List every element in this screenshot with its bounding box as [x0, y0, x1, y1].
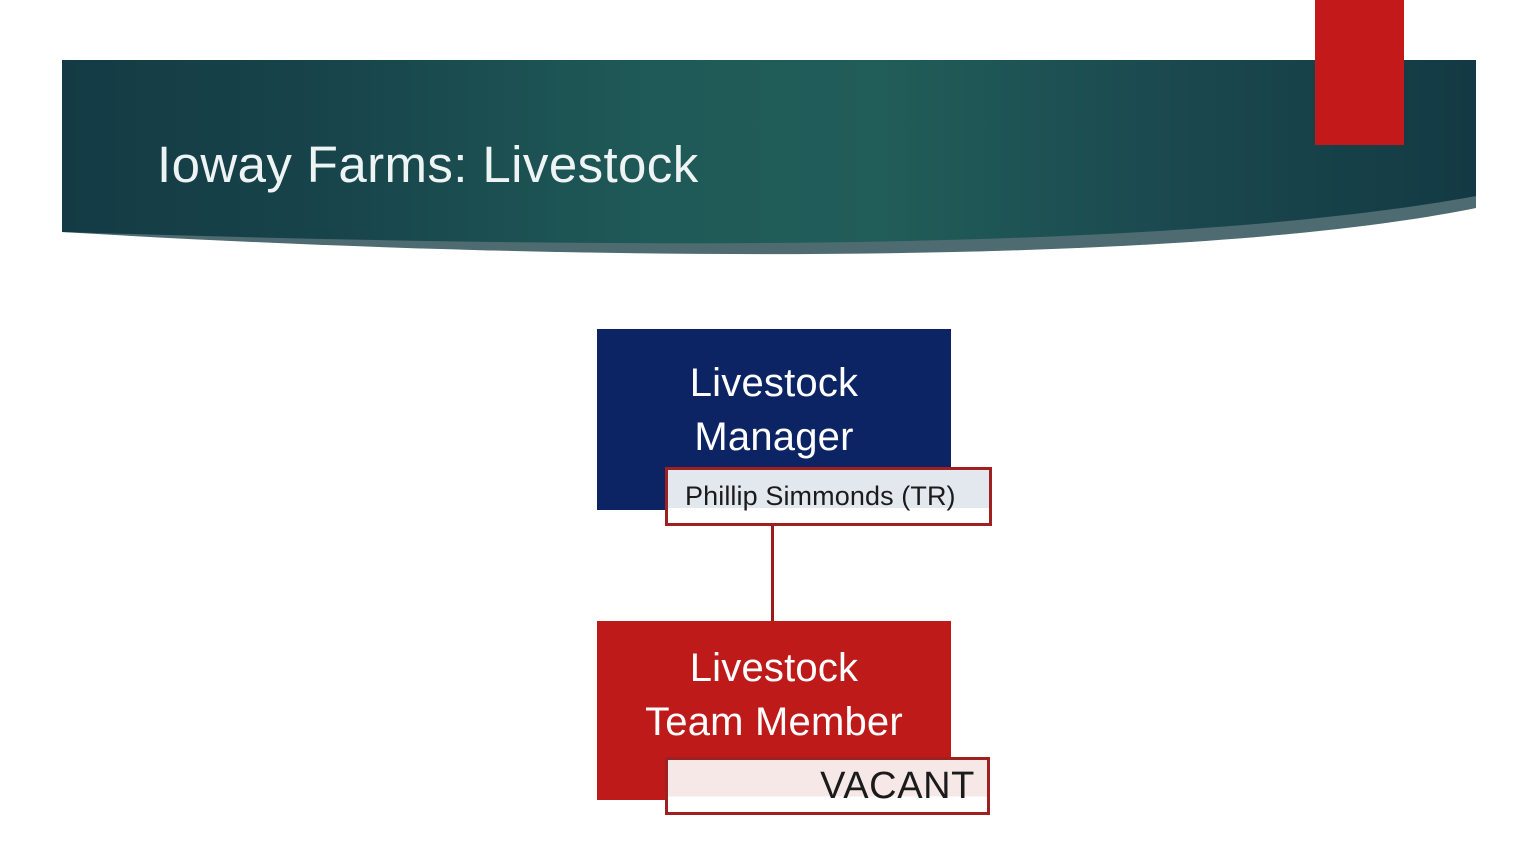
- banner-shape: [0, 0, 1536, 300]
- banner-crescent: [62, 60, 1476, 254]
- org-node-manager-occupant[interactable]: Phillip Simmonds (TR): [665, 467, 992, 526]
- slide-canvas: Ioway Farms: Livestock Livestock Manager…: [0, 0, 1536, 858]
- org-node-team-member-role: Livestock Team Member: [597, 641, 951, 749]
- connector-line: [771, 524, 774, 623]
- org-node-team-member-occupant[interactable]: VACANT: [665, 757, 990, 815]
- red-accent-bar: [1315, 0, 1404, 145]
- banner-main: [62, 60, 1476, 243]
- header-banner: Ioway Farms: Livestock: [0, 0, 1536, 300]
- org-node-manager-role: Livestock Manager: [597, 356, 951, 464]
- page-title: Ioway Farms: Livestock: [157, 130, 1157, 200]
